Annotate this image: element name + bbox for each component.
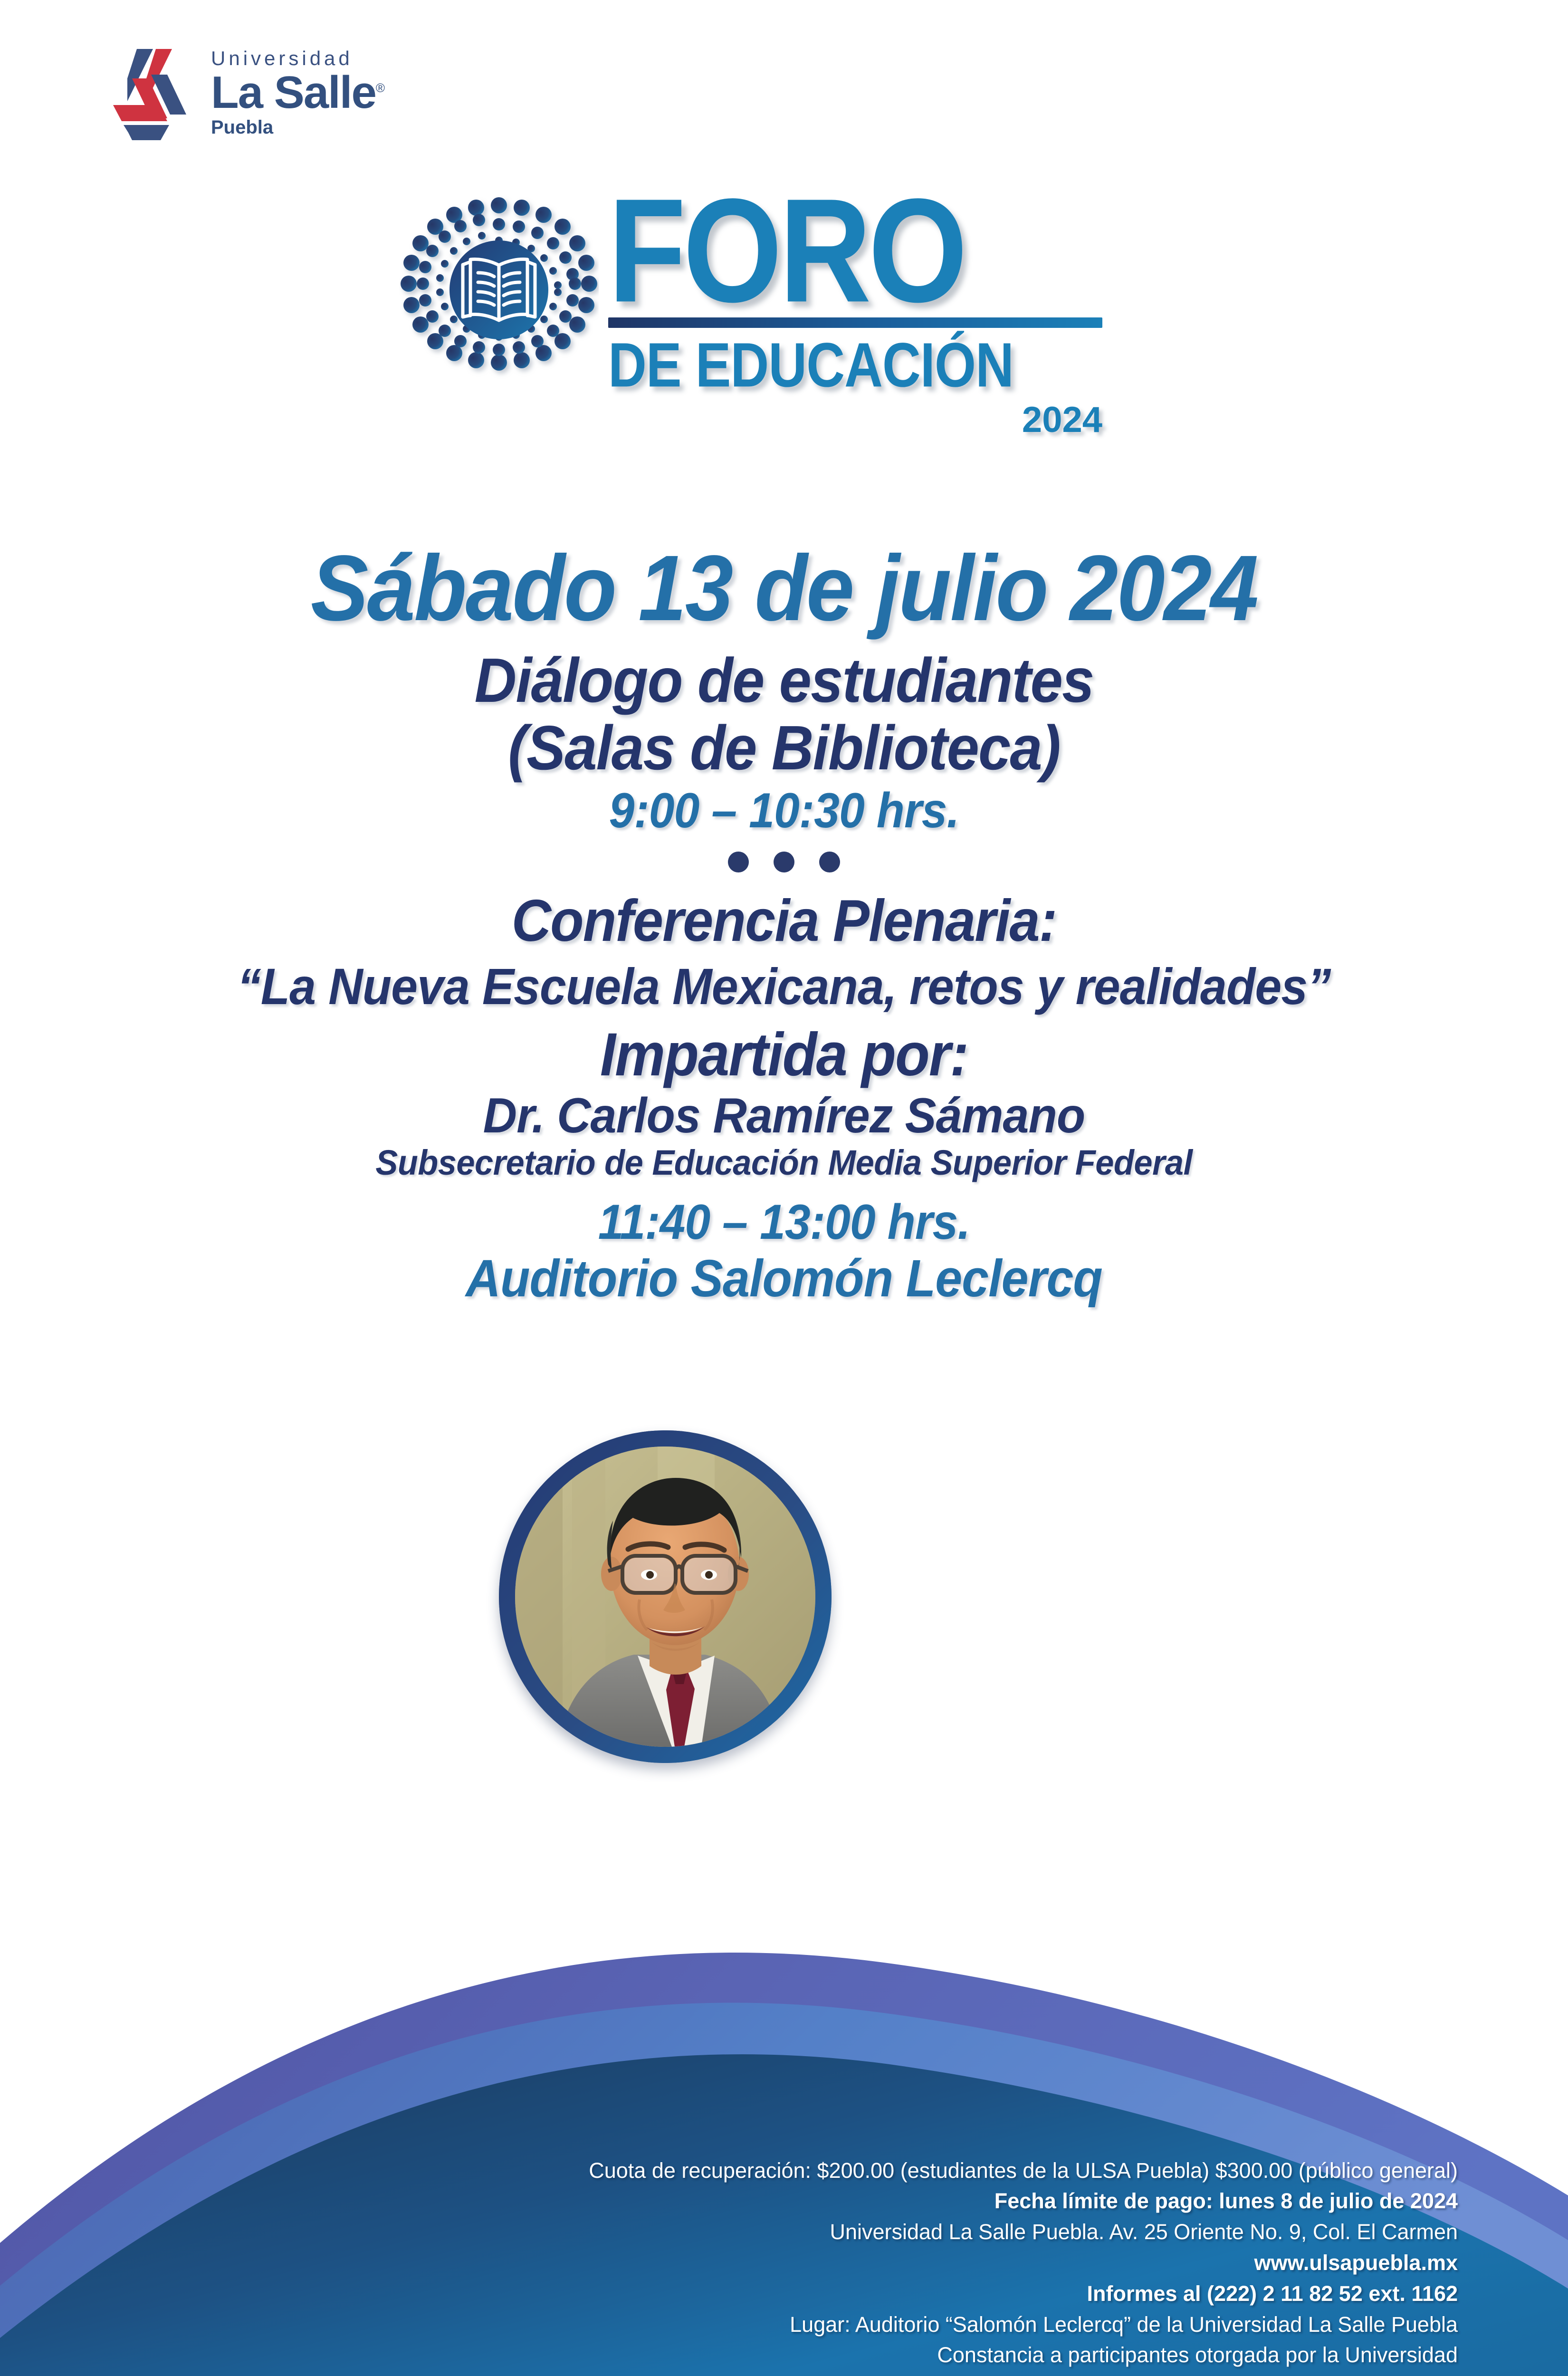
foro-year: 2024 bbox=[608, 399, 1102, 441]
footer-line-deadline: Fecha límite de pago: lunes 8 de julio d… bbox=[0, 2186, 1458, 2217]
speaker-role: Subsecretario de Educación Media Superio… bbox=[39, 1145, 1529, 1180]
portrait-photo bbox=[515, 1447, 815, 1747]
separator-dot bbox=[774, 852, 794, 872]
university-label: Universidad bbox=[211, 48, 384, 68]
foro-title: FORO bbox=[608, 190, 1178, 311]
session1-place: (Salas de Biblioteca) bbox=[55, 717, 1513, 779]
separator-dot bbox=[819, 852, 840, 872]
footer-line-venue: Lugar: Auditorio “Salomón Leclercq” de l… bbox=[0, 2309, 1458, 2340]
plenary-title: “La Nueva Escuela Mexicana, retos y real… bbox=[55, 961, 1513, 1012]
given-by-label: Impartida por: bbox=[55, 1025, 1513, 1085]
session2-venue: Auditorio Salomón Leclercq bbox=[55, 1253, 1513, 1305]
footer-line-certificate: Constancia a participantes otorgada por … bbox=[0, 2340, 1458, 2371]
speaker-portrait bbox=[499, 1430, 832, 1763]
footer-line-address: Universidad La Salle Puebla. Av. 25 Orie… bbox=[0, 2217, 1458, 2248]
speaker-name: Dr. Carlos Ramírez Sámano bbox=[39, 1091, 1529, 1140]
registered-trademark-icon: ® bbox=[376, 81, 384, 95]
program-content: Sábado 13 de julio 2024 Diálogo de estud… bbox=[0, 542, 1568, 1305]
separator-dot bbox=[728, 852, 749, 872]
event-date: Sábado 13 de julio 2024 bbox=[55, 542, 1513, 635]
footer-line-fee: Cuota de recuperación: $200.00 (estudian… bbox=[0, 2156, 1458, 2186]
foro-wordmark: FORO DE EDUCACIÓN 2024 bbox=[608, 190, 1178, 441]
session1-title: Diálogo de estudiantes bbox=[55, 649, 1513, 712]
footer-line-website[interactable]: www.ulsapuebla.mx bbox=[0, 2248, 1458, 2279]
la-salle-mark-icon bbox=[109, 45, 195, 140]
foro-emblem bbox=[399, 195, 599, 394]
footer-info: Cuota de recuperación: $200.00 (estudian… bbox=[0, 2156, 1568, 2376]
poster-canvas: Universidad La Salle® Puebla bbox=[0, 0, 1568, 2376]
footer-line-bank: Fomento Educativo Popular A. C. Clabe In… bbox=[0, 2371, 1458, 2376]
plenary-label: Conferencia Plenaria: bbox=[55, 891, 1513, 950]
footer-line-phone[interactable]: Informes al (222) 2 11 82 52 ext. 1162 bbox=[0, 2279, 1458, 2309]
foro-logo: FORO DE EDUCACIÓN 2024 bbox=[399, 190, 1178, 475]
university-logo: Universidad La Salle® Puebla bbox=[109, 38, 451, 147]
university-campus: Puebla bbox=[211, 118, 384, 137]
university-name: La Salle® bbox=[211, 70, 384, 115]
university-wordmark: Universidad La Salle® Puebla bbox=[211, 48, 384, 137]
foro-subtitle: DE EDUCACIÓN bbox=[608, 335, 1178, 395]
session1-time: 9:00 – 10:30 hrs. bbox=[55, 786, 1513, 835]
session2-time: 11:40 – 13:00 hrs. bbox=[55, 1198, 1513, 1247]
three-dots-separator bbox=[0, 852, 1568, 872]
